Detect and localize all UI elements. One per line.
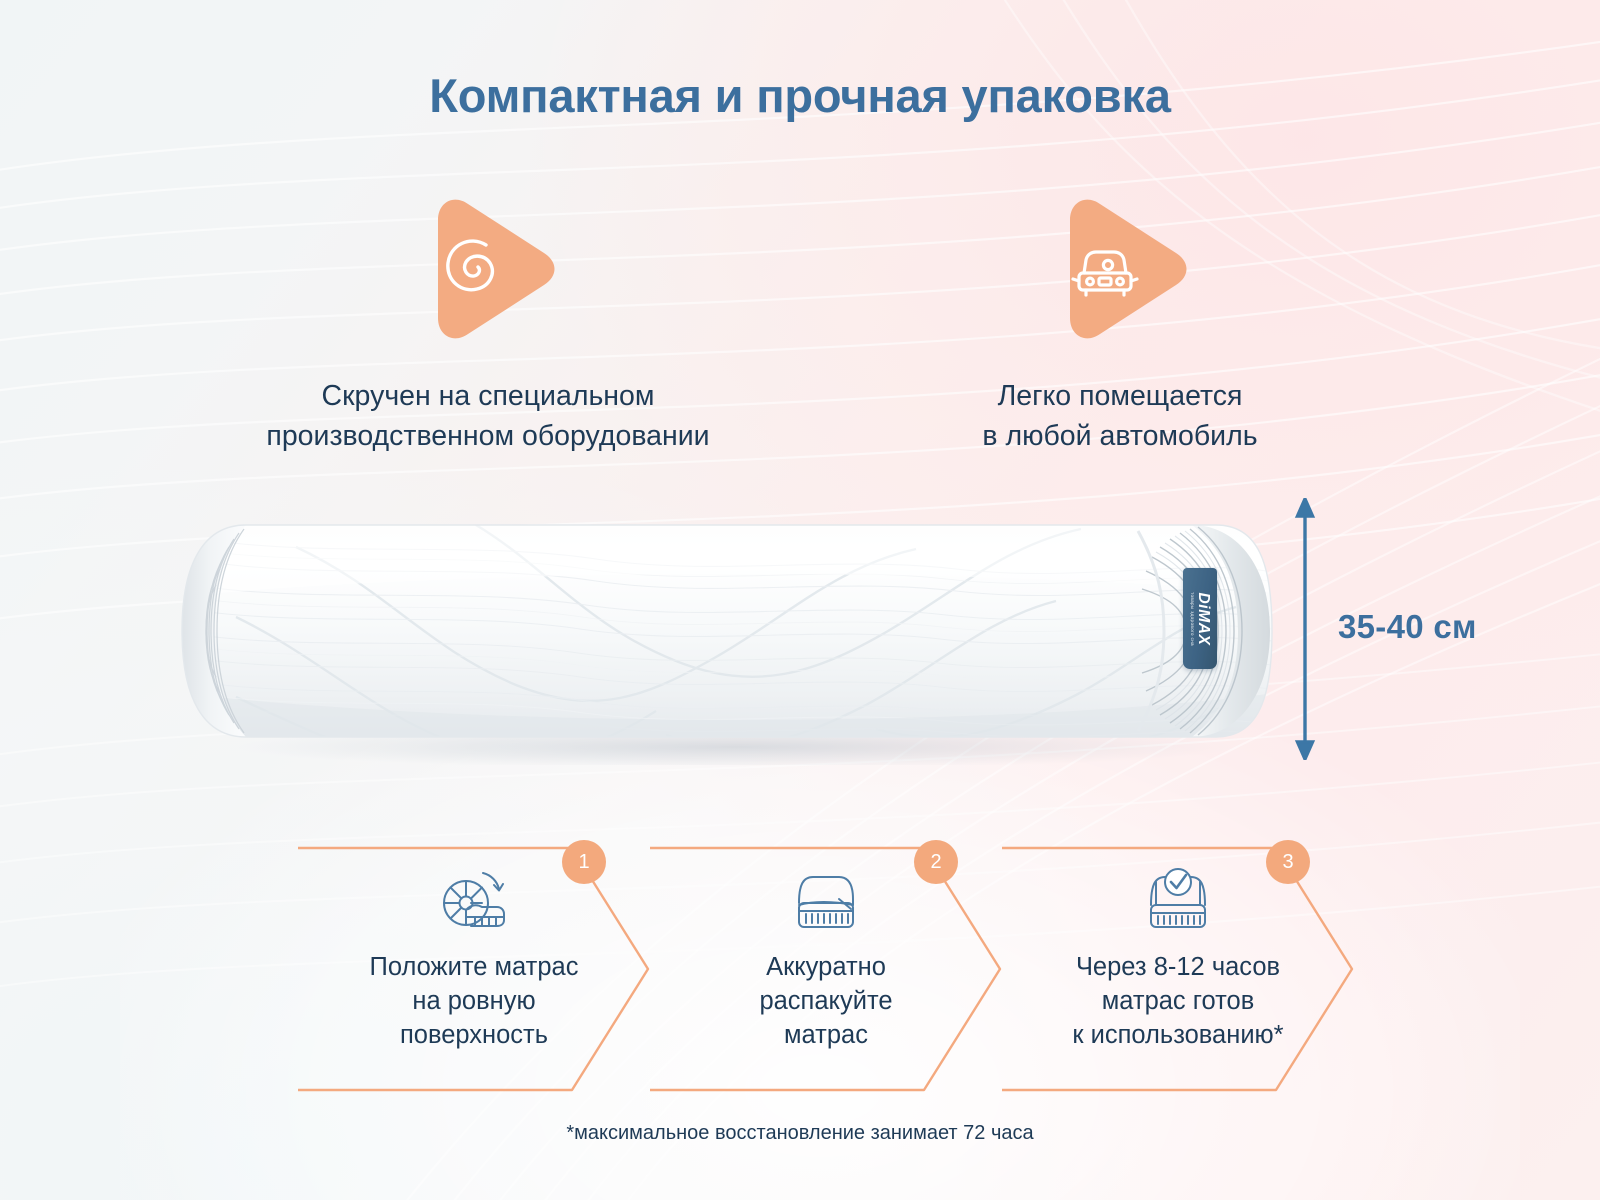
badge-play-triangle-1 — [416, 196, 560, 342]
dimension-label: 35-40 см — [1338, 608, 1477, 646]
step-text-3: Через 8-12 часов матрас готов к использо… — [1000, 950, 1356, 1052]
feature-block-rolled: Скручен на специальном производственном … — [188, 196, 788, 456]
dimension-arrow-icon — [1291, 498, 1319, 760]
step-text-1: Положите матрас на ровную поверхность — [296, 950, 652, 1052]
footnote: *максимальное восстановление занимает 72… — [0, 1122, 1600, 1145]
mattress-check-icon — [1141, 865, 1215, 939]
brand-name: DiMAX — [1195, 569, 1211, 668]
step-number-2: 2 — [914, 840, 958, 884]
car-icon — [1066, 229, 1144, 307]
step-card-1: 1 — [296, 846, 652, 1092]
step-number-1: 1 — [562, 840, 606, 884]
brand-tag: DiMAX товары здорового сна — [1183, 568, 1217, 669]
feature-caption-2: Легко помещается в любой автомобиль — [860, 376, 1380, 456]
feature-caption-1: Скручен на специальном производственном … — [188, 376, 788, 456]
page-title: Компактная и прочная упаковка — [0, 68, 1600, 123]
step-card-2: 2 — [648, 846, 1004, 1092]
infographic-canvas: Компактная и прочная упаковка Скручен на… — [0, 0, 1600, 1200]
rolled-mattress-unroll-icon — [437, 865, 511, 939]
steps-row: 1 — [296, 846, 1296, 1092]
step-text-2: Аккуратно распакуйте матрас — [648, 950, 1004, 1052]
step-card-3: 3 — [1000, 846, 1356, 1092]
spiral-roll-icon — [434, 229, 512, 307]
feature-block-car: Легко помещается в любой автомобиль — [860, 196, 1380, 456]
rolled-mattress-image: DiMAX товары здорового сна — [176, 497, 1276, 765]
brand-tagline: товары здорового сна — [1189, 569, 1194, 668]
mattress-unwrap-icon — [789, 865, 863, 939]
badge-play-triangle-2 — [1048, 196, 1192, 342]
step-number-3: 3 — [1266, 840, 1310, 884]
